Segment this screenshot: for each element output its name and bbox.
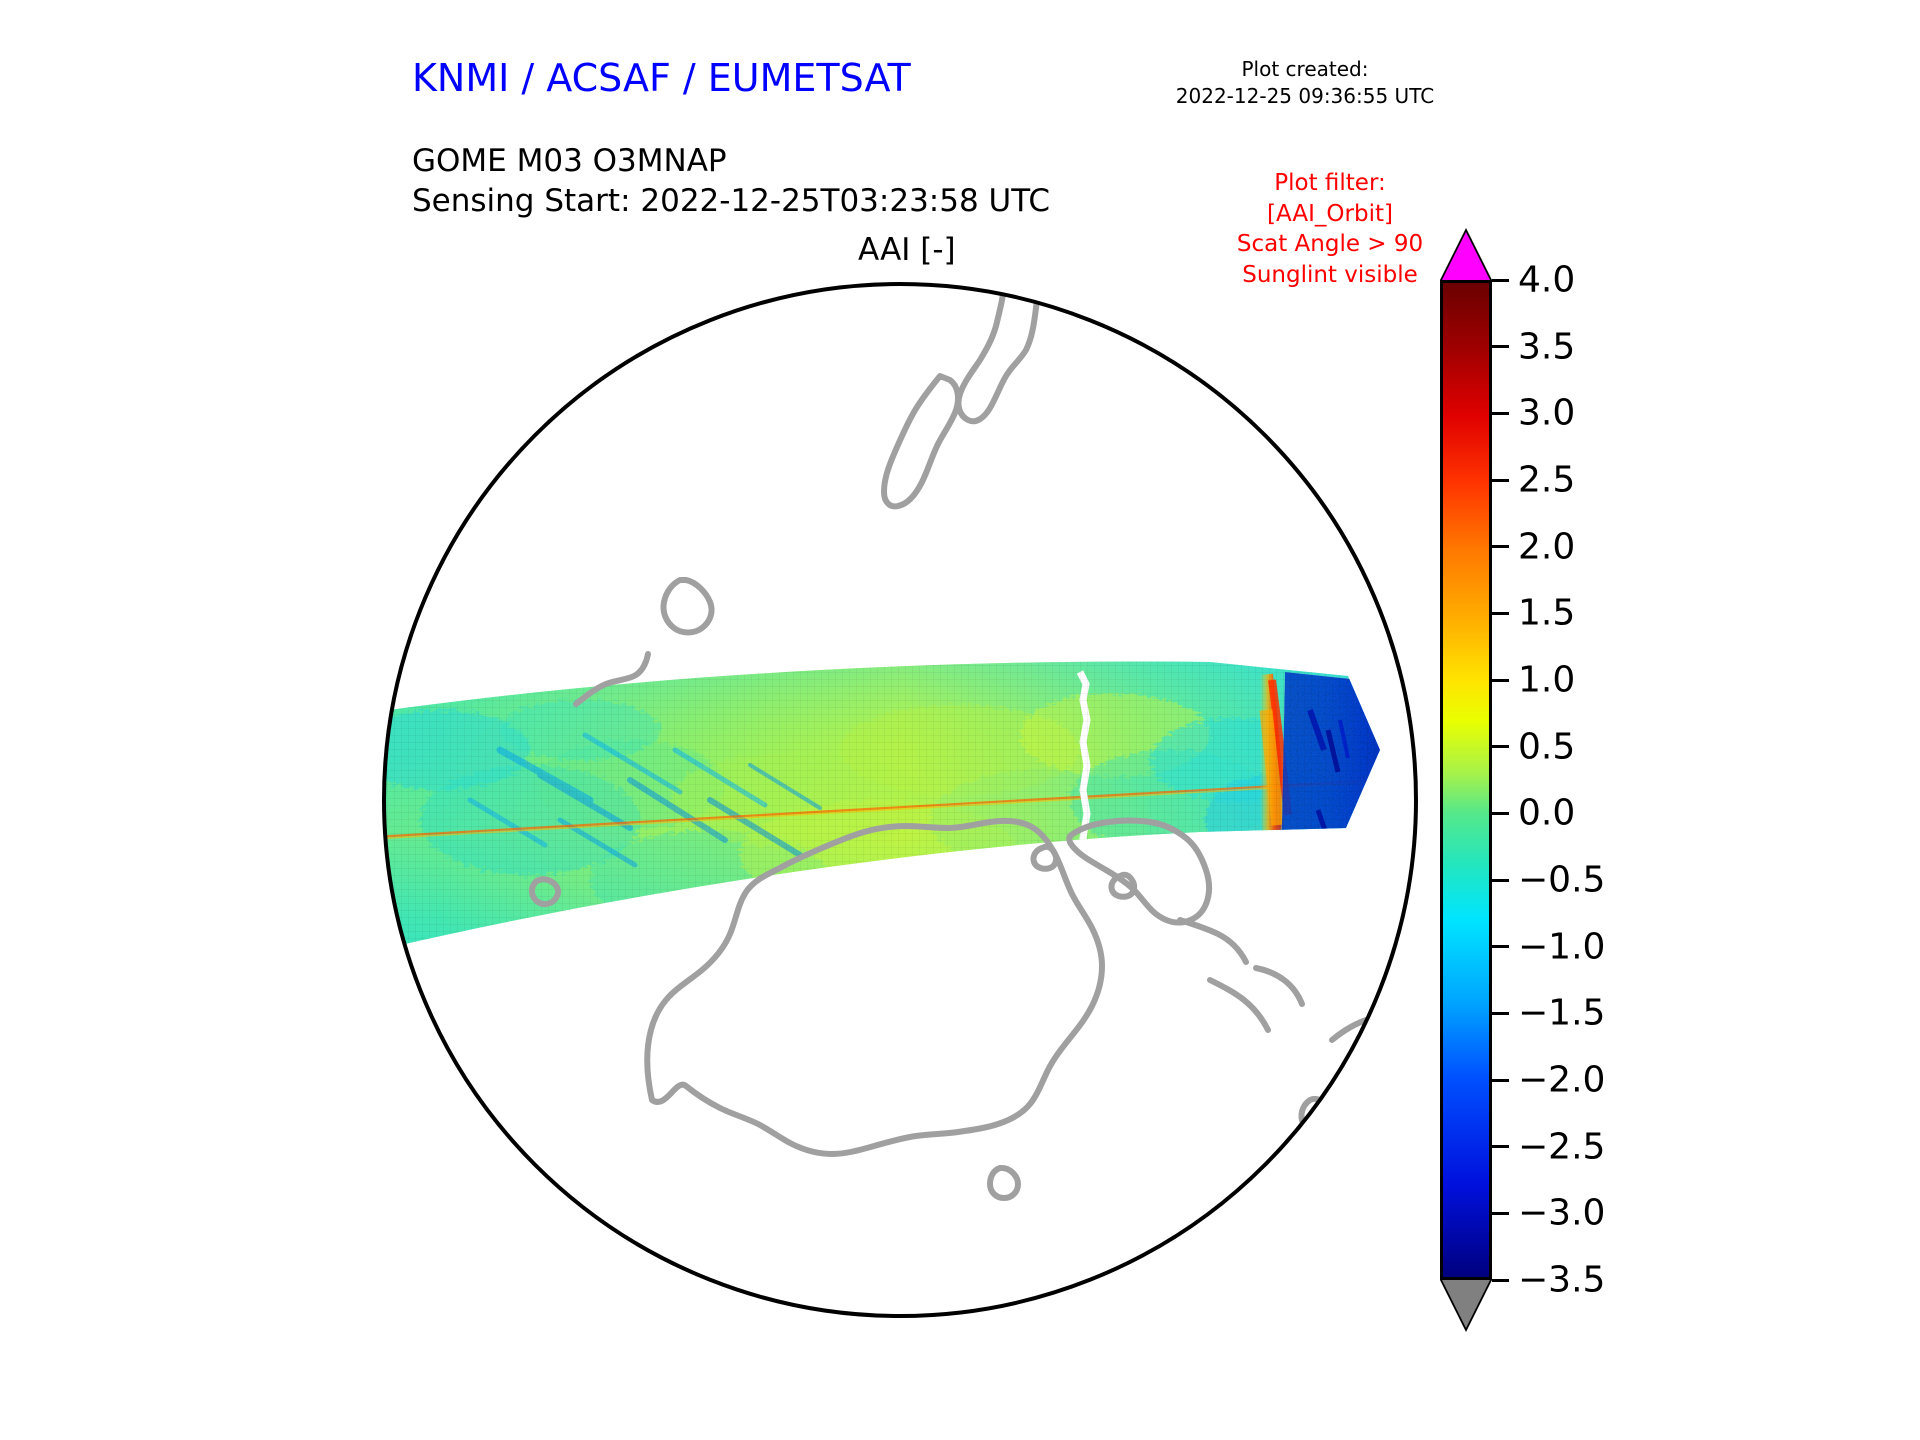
colorbar-gradient [1440, 280, 1492, 1280]
colorbar-tick [1492, 479, 1509, 482]
sensing-start: Sensing Start: 2022-12-25T03:23:58 UTC [412, 182, 1050, 222]
colorbar-tick [1492, 945, 1509, 948]
dataset-name: GOME M03 O3MNAP [412, 142, 1050, 182]
colorbar-tick-label: 4.0 [1518, 260, 1575, 301]
globe-map [380, 280, 1420, 1320]
plot-created-label: Plot created: [1160, 56, 1450, 83]
colorbar-tick [1492, 745, 1509, 748]
colorbar-tick-label: 0.0 [1518, 793, 1575, 834]
colorbar-under-arrow [1442, 1280, 1490, 1328]
plot-filter-line-1: [AAI_Orbit] [1185, 199, 1475, 230]
colorbar-tick-label: −2.0 [1518, 1060, 1605, 1101]
colorbar-tick [1492, 879, 1509, 882]
colorbar-tick-label: −2.5 [1518, 1126, 1605, 1167]
colorbar-tick [1492, 612, 1509, 615]
plot-created-block: Plot created: 2022-12-25 09:36:55 UTC [1160, 56, 1450, 109]
colorbar-tick-label: 0.5 [1518, 726, 1575, 767]
colorbar-tick [1492, 679, 1509, 682]
colorbar-tick-label: 3.0 [1518, 393, 1575, 434]
colorbar-tick-label: 3.5 [1518, 326, 1575, 367]
colorbar-tick [1492, 545, 1509, 548]
colorbar-tick-label: 1.5 [1518, 593, 1575, 634]
colorbar-tick-label: −3.0 [1518, 1193, 1605, 1234]
colorbar-tick-label: −3.5 [1518, 1260, 1605, 1301]
colorbar-tick [1492, 812, 1509, 815]
colorbar-tick [1492, 412, 1509, 415]
colorbar-tick-label: −0.5 [1518, 860, 1605, 901]
colorbar-tick-label: −1.0 [1518, 926, 1605, 967]
colorbar-over-arrow [1442, 232, 1490, 280]
colorbar-tick [1492, 1212, 1509, 1215]
colorbar-tick-label: 2.5 [1518, 460, 1575, 501]
colorbar-tick-label: 1.0 [1518, 660, 1575, 701]
colorbar-tick [1492, 1012, 1509, 1015]
colorbar-tick [1492, 1079, 1509, 1082]
colorbar-tick-label: 2.0 [1518, 526, 1575, 567]
colorbar-tick [1492, 279, 1509, 282]
plot-created-time: 2022-12-25 09:36:55 UTC [1160, 83, 1450, 110]
map-area [380, 280, 1420, 1320]
colorbar-tick-label: −1.5 [1518, 993, 1605, 1034]
plot-filter-heading: Plot filter: [1185, 168, 1475, 199]
plot-page: KNMI / ACSAF / EUMETSAT Plot created: 20… [0, 0, 1920, 1440]
colorbar: 4.03.53.02.52.01.51.00.50.0−0.5−1.0−1.5−… [1440, 280, 1500, 1280]
colorbar-tick [1492, 1279, 1509, 1282]
dataset-block: GOME M03 O3MNAP Sensing Start: 2022-12-2… [412, 142, 1050, 221]
plot-title: AAI [-] [858, 232, 956, 268]
plot-filter-line-2: Scat Angle > 90 [1185, 229, 1475, 260]
plot-filter-block: Plot filter: [AAI_Orbit] Scat Angle > 90… [1185, 168, 1475, 290]
institute-title: KNMI / ACSAF / EUMETSAT [412, 56, 911, 100]
colorbar-tick [1492, 345, 1509, 348]
colorbar-tick [1492, 1145, 1509, 1148]
